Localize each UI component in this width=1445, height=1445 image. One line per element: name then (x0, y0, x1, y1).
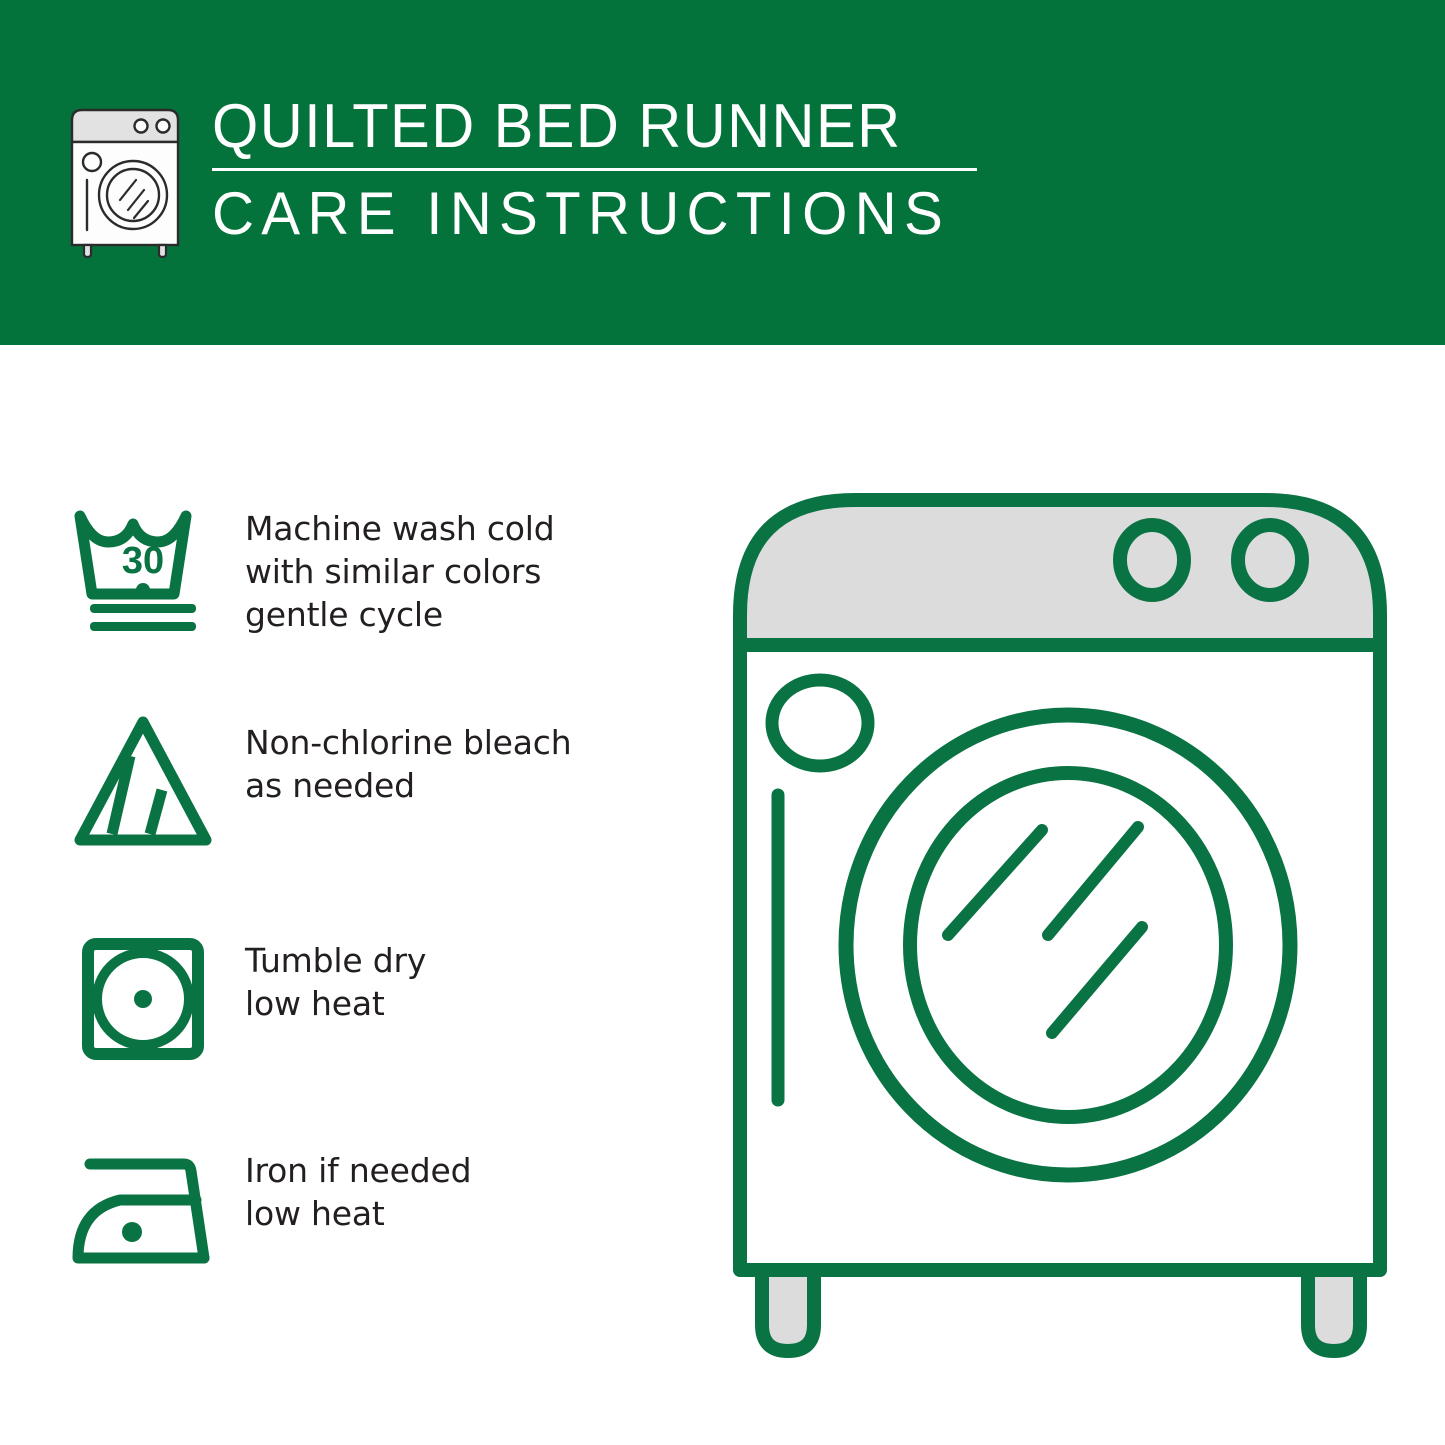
care-instruction-item: 30 Machine wash cold with similar colors… (60, 493, 640, 643)
care-label-line: as needed (245, 764, 571, 807)
care-label-line: Tumble dry (245, 939, 426, 982)
machine-dial (772, 680, 868, 766)
header-text: QUILTED BED RUNNER CARE INSTRUCTIONS (212, 92, 1042, 247)
care-instruction-item: Non-chlorine bleach as needed (60, 707, 640, 857)
leg-right (1308, 1270, 1360, 1351)
iron-icon (60, 1135, 225, 1285)
care-instruction-label: Tumble dry low heat (245, 925, 426, 1025)
care-instruction-label: Machine wash cold with similar colors ge… (245, 493, 555, 636)
header-divider (212, 168, 977, 171)
header-content: QUILTED BED RUNNER CARE INSTRUCTIONS (60, 92, 1020, 272)
care-instruction-item: Iron if needed low heat (60, 1135, 640, 1285)
care-instruction-list: 30 Machine wash cold with similar colors… (0, 345, 660, 1445)
washing-machine-icon (60, 100, 190, 258)
care-label-line: Non-chlorine bleach (245, 721, 571, 764)
care-instruction-label: Non-chlorine bleach as needed (245, 707, 571, 807)
tumble-dry-icon (60, 925, 225, 1075)
care-label-line: low heat (245, 1192, 471, 1235)
care-label-line: Machine wash cold (245, 507, 555, 550)
washing-machine-illustration (700, 465, 1420, 1365)
care-label-line: low heat (245, 982, 426, 1025)
care-instruction-label: Iron if needed low heat (245, 1135, 471, 1235)
wash-temperature-value: 30 (121, 540, 163, 582)
page-subtitle: CARE INSTRUCTIONS (212, 181, 1017, 247)
page-title: QUILTED BED RUNNER (212, 92, 1009, 162)
care-instructions-page: QUILTED BED RUNNER CARE INSTRUCTIONS 30 (0, 0, 1445, 1445)
care-label-line: with similar colors (245, 550, 555, 593)
care-label-line: Iron if needed (245, 1149, 471, 1192)
wash-tub-30-icon: 30 (60, 493, 225, 643)
bleach-triangle-icon (60, 707, 225, 857)
knob-left (1120, 525, 1184, 595)
door-inner-ring (910, 773, 1226, 1117)
header-band: QUILTED BED RUNNER CARE INSTRUCTIONS (0, 0, 1445, 345)
care-label-line: gentle cycle (245, 593, 555, 636)
leg-left (762, 1270, 814, 1351)
knob-right (1238, 525, 1302, 595)
care-instruction-item: Tumble dry low heat (60, 925, 640, 1075)
